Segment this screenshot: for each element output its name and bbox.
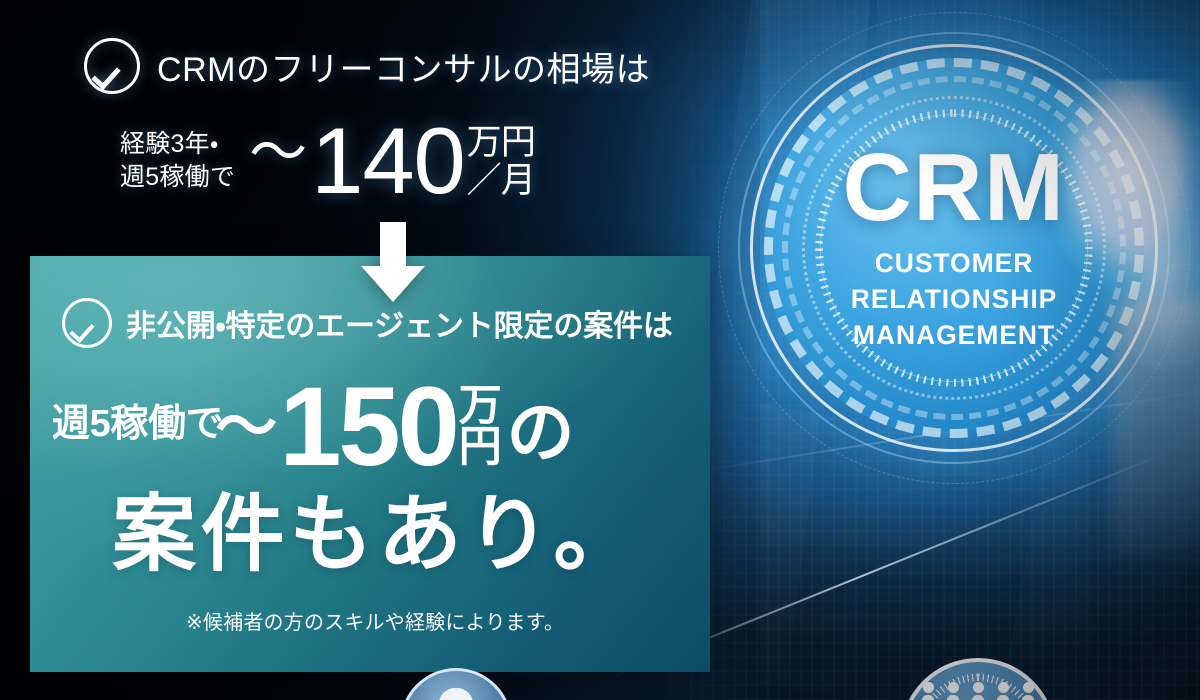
top-condition: 経験3年・ 週5稼働で xyxy=(120,128,235,193)
top-headline: CRMのフリーコンサルの相場は xyxy=(157,42,650,91)
panel-unit-en: 円 xyxy=(459,427,501,468)
top-unit-period: ／月 xyxy=(467,163,536,198)
panel-headline: 非公開・特定のエージェント限定の案件は xyxy=(126,301,673,345)
top-unit-currency: 万円 xyxy=(467,125,536,160)
top-headline-row: CRMのフリーコンサルの相場は xyxy=(84,38,650,94)
panel-tilde: 〜 xyxy=(215,397,277,459)
panel-big-line: 案件もあり。 xyxy=(112,492,642,576)
panel-condition: 週5稼働で xyxy=(52,405,223,443)
panel-unit-stack: 万 円 xyxy=(459,386,501,469)
panel-rate-row: 週5稼働で 〜 150 万 円 の xyxy=(52,378,574,477)
panel-unit-man: 万 xyxy=(459,386,501,427)
top-rate-row: 経験3年・ 週5稼働で 〜 140 万円 ／月 xyxy=(120,118,535,204)
panel-headline-row: 非公開・特定のエージェント限定の案件は xyxy=(62,298,673,348)
top-condition-line-1: 経験3年・ xyxy=(120,128,235,161)
panel-amount: 150 xyxy=(279,378,456,477)
panel-particle-no: の xyxy=(506,399,574,467)
top-condition-line-2: 週5稼働で xyxy=(120,161,235,194)
panel-note: ※候補者の方のスキルや経験によります。 xyxy=(186,606,564,635)
top-tilde: 〜 xyxy=(249,124,307,182)
banner-root: CRM CUSTOMER RELATIONSHIP MANAGEMENT CRM… xyxy=(0,0,1200,700)
arrow-down-icon xyxy=(355,222,431,302)
avatar-head xyxy=(439,688,473,700)
top-unit-stack: 万円 ／月 xyxy=(467,125,536,198)
check-circle-icon xyxy=(62,298,112,348)
check-circle-icon xyxy=(84,38,140,94)
top-amount: 140 xyxy=(311,118,464,204)
